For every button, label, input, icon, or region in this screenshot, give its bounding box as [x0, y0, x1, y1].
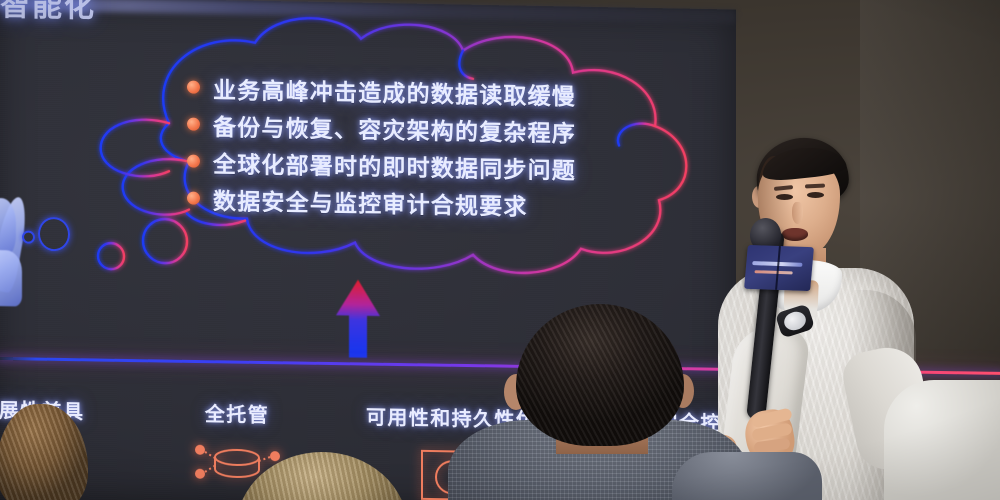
presenter-eye-left [776, 194, 793, 200]
presentation-photo-scene: 智能化 [0, 0, 1000, 500]
audience-member-far-right-light-shoulder [884, 380, 1000, 500]
presenter-mouth [782, 228, 808, 241]
bullet-text: 备份与恢复、容灾架构的复杂程序 [213, 108, 576, 149]
bullet-dot-icon [187, 81, 200, 94]
list-item: 数据安全与监控审计合规要求 [187, 181, 607, 224]
bullet-dot-icon [187, 118, 200, 131]
presenter-nose [792, 202, 803, 224]
list-item: 业务高峰冲击造成的数据读取缓慢 [187, 70, 607, 113]
bullet-text: 业务高峰冲击造成的数据读取缓慢 [213, 71, 576, 112]
list-item: 全球化部署时的即时数据同步问题 [187, 144, 607, 187]
list-item: 备份与恢复、容灾架构的复杂程序 [187, 107, 607, 150]
slide-heading-partial: 智能化 [0, 0, 96, 26]
microphone-flag [744, 245, 814, 291]
audience-member-right-gray-shoulder [672, 452, 822, 500]
microphone-flag-accent-line [754, 270, 792, 274]
graphic-circle-small-icon [22, 231, 35, 244]
left-edge-figure-graphic [0, 192, 58, 323]
bullet-dot-icon [187, 192, 200, 205]
microphone-flag-edge [775, 246, 781, 290]
presenter-eye-right [807, 192, 824, 198]
bullet-text: 全球化部署时的即时数据同步问题 [213, 145, 576, 186]
bullet-text: 数据安全与监控审计合规要求 [213, 182, 528, 222]
up-arrow-icon [334, 277, 382, 360]
bullet-dot-icon [187, 155, 200, 168]
feature-label: 全托管 [190, 398, 284, 429]
graphic-circle-large-icon [38, 217, 70, 252]
slide-bullet-list: 业务高峰冲击造成的数据读取缓慢 备份与恢复、容灾架构的复杂程序 全球化部署时的即… [187, 70, 607, 226]
graphic-body-shape [0, 250, 22, 307]
